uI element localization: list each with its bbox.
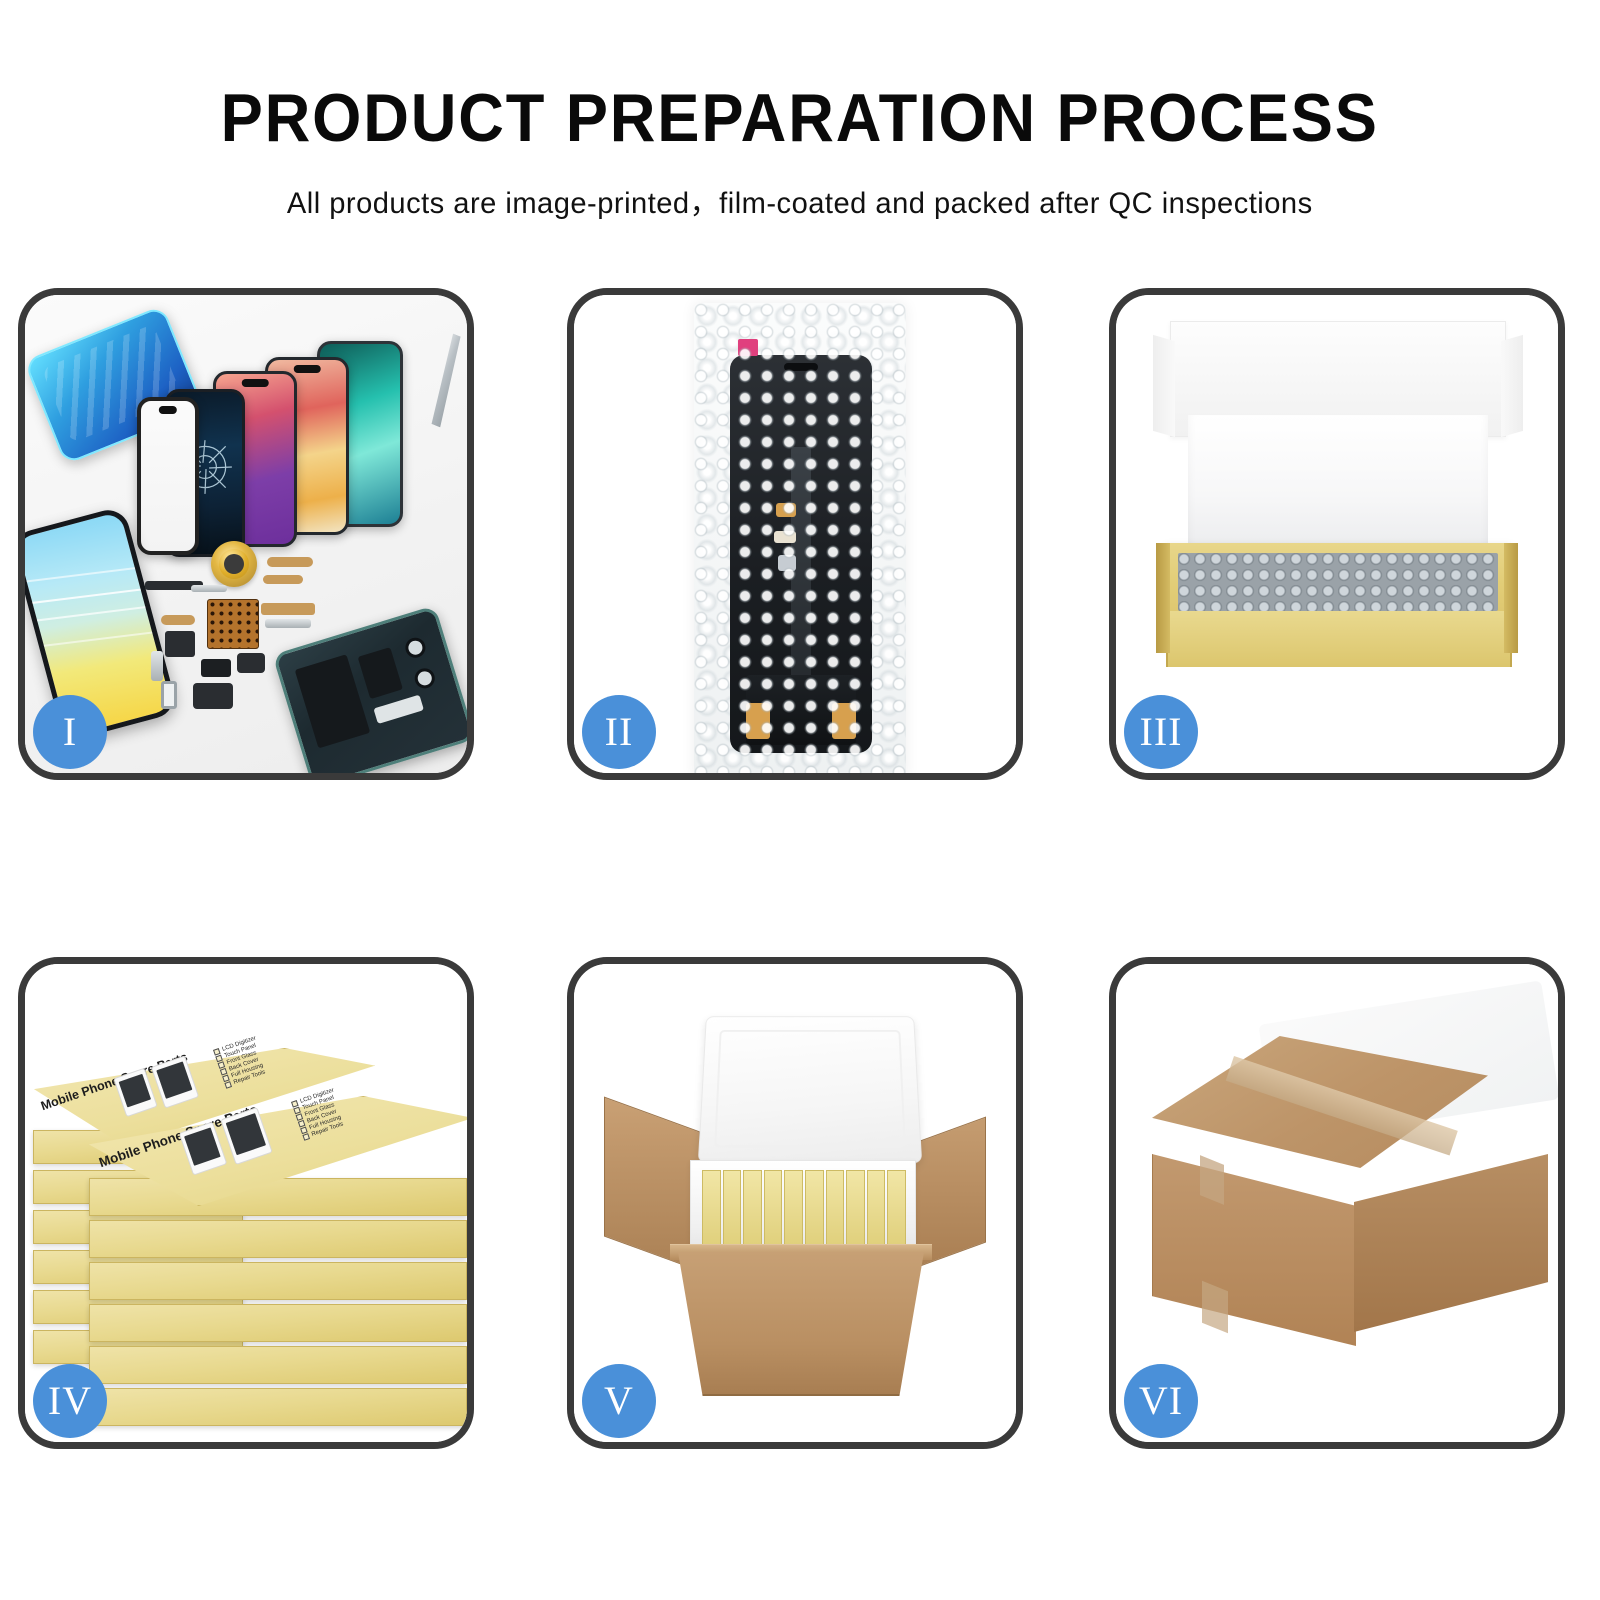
metal-bracket — [191, 585, 227, 592]
header: PRODUCT PREPARATION PROCESS All products… — [0, 0, 1600, 240]
step-panel-vi: VI — [1109, 957, 1565, 1449]
step-badge-i: I — [33, 695, 107, 769]
flex-cable — [263, 575, 303, 584]
phone-notch — [242, 379, 269, 387]
step-badge-iv: IV — [33, 1364, 107, 1438]
gold-box-item — [887, 1170, 906, 1246]
small-components-group — [145, 541, 395, 731]
camera-lens-icon — [412, 666, 437, 691]
taptic-engine — [237, 653, 265, 673]
gold-box-item — [867, 1170, 886, 1246]
retail-box — [89, 1178, 467, 1216]
phone-notch — [294, 365, 321, 373]
carton-body — [678, 1252, 924, 1396]
gold-box-item — [826, 1170, 845, 1246]
ic-chip — [207, 599, 259, 649]
phone-notch — [159, 406, 177, 414]
screw-set — [151, 651, 163, 681]
page-title: PRODUCT PREPARATION PROCESS — [221, 84, 1379, 152]
infographic-page: PRODUCT PREPARATION PROCESS All products… — [0, 0, 1600, 1600]
phone-front-glass — [137, 397, 199, 555]
bubble-wrap-filling — [1178, 553, 1498, 611]
styrofoam-lid — [698, 1016, 922, 1163]
white-foam-sheet — [1188, 415, 1488, 561]
gold-box-item — [805, 1170, 824, 1246]
gold-box-item — [743, 1170, 762, 1246]
page-subtitle: All products are image-printed，film-coat… — [287, 178, 1313, 222]
gold-box-item — [846, 1170, 865, 1246]
loudspeaker — [201, 659, 231, 677]
packed-gold-boxes — [702, 1170, 906, 1246]
mailer-box-right-flap — [1504, 543, 1518, 653]
carton-side-face — [1354, 1154, 1548, 1332]
retail-box — [89, 1304, 467, 1342]
retail-box — [89, 1388, 467, 1426]
retail-box — [89, 1262, 467, 1300]
retail-box — [89, 1220, 467, 1258]
carton-front-face — [1152, 1154, 1356, 1346]
antenna-strip — [265, 619, 311, 628]
step-panel-ii: II — [567, 288, 1023, 780]
step-panel-i: I — [18, 288, 474, 780]
connector-block — [165, 631, 195, 657]
bubble-wrap-texture — [694, 303, 906, 773]
step-badge-vi: VI — [1124, 1364, 1198, 1438]
gold-box-item — [702, 1170, 721, 1246]
power-button-flex — [161, 615, 195, 625]
step-panel-v: V — [567, 957, 1023, 1449]
step-badge-ii: II — [582, 695, 656, 769]
wireless-charging-coil — [211, 541, 257, 587]
gold-box-item — [723, 1170, 742, 1246]
step-badge-v: V — [582, 1364, 656, 1438]
bubble-wrap-bag — [694, 303, 906, 773]
camera-module — [193, 683, 233, 709]
process-steps-grid: I — [18, 288, 1590, 1438]
phone-fan-group — [137, 337, 467, 547]
retail-box — [89, 1346, 467, 1384]
mailer-box-front-wall — [1166, 611, 1512, 667]
checkbox-icon — [302, 1133, 310, 1141]
step-panel-iv: Mobile Phone Spare Parts LCD Digitizer T… — [18, 957, 474, 1449]
step-badge-iii: III — [1124, 695, 1198, 769]
flex-cable — [267, 557, 313, 567]
mailer-box-left-flap — [1156, 543, 1170, 653]
gold-box-item — [764, 1170, 783, 1246]
checkbox-icon — [224, 1081, 232, 1089]
step-panel-iii: III — [1109, 288, 1565, 780]
camera-lens-icon — [403, 635, 428, 660]
gold-box-item — [784, 1170, 803, 1246]
volume-button-flex — [261, 603, 315, 615]
sim-tray — [161, 681, 177, 709]
